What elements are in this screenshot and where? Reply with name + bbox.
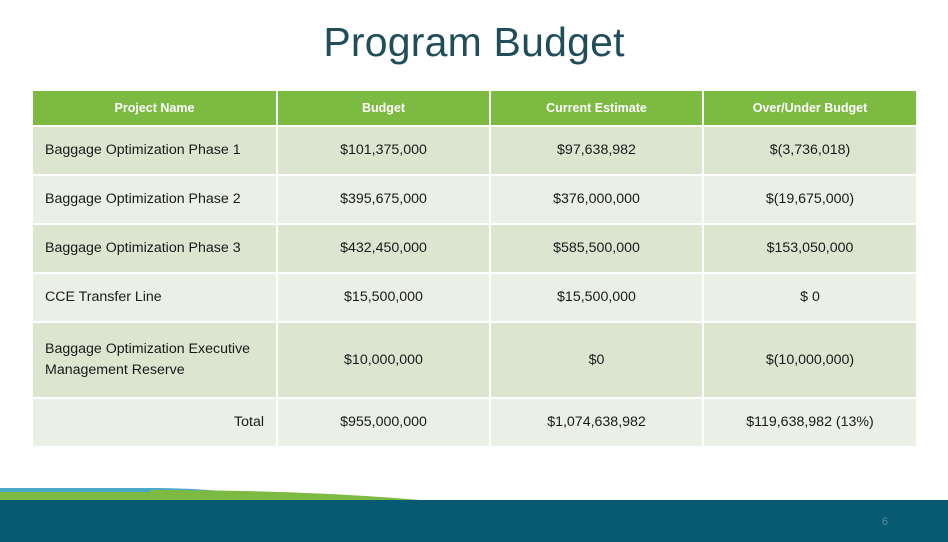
cell-current-estimate: $585,500,000 bbox=[491, 225, 704, 274]
program-budget-table: Project Name Budget Current Estimate Ove… bbox=[33, 91, 916, 446]
cell-project-name: Baggage Optimization Phase 3 bbox=[33, 225, 278, 274]
cell-over-under: $(10,000,000) bbox=[704, 323, 916, 399]
table-total-row: Total $955,000,000 $1,074,638,982 $119,6… bbox=[33, 399, 916, 446]
table-row: Baggage Optimization Phase 3 $432,450,00… bbox=[33, 225, 916, 274]
slide-canvas: Program Budget Project Name Budget Curre… bbox=[0, 0, 948, 542]
cell-budget: $395,675,000 bbox=[278, 176, 491, 225]
footer-teal-bar bbox=[0, 500, 948, 542]
cell-budget: $10,000,000 bbox=[278, 323, 491, 399]
table-header-row: Project Name Budget Current Estimate Ove… bbox=[33, 91, 916, 127]
table-body: Baggage Optimization Phase 1 $101,375,00… bbox=[33, 127, 916, 446]
cell-current-estimate: $15,500,000 bbox=[491, 274, 704, 323]
cell-over-under: $ 0 bbox=[704, 274, 916, 323]
cell-project-name: Baggage Optimization Phase 1 bbox=[33, 127, 278, 176]
cell-budget: $101,375,000 bbox=[278, 127, 491, 176]
cell-current-estimate: $97,638,982 bbox=[491, 127, 704, 176]
cell-current-estimate: $376,000,000 bbox=[491, 176, 704, 225]
cell-over-under: $(19,675,000) bbox=[704, 176, 916, 225]
cell-project-name: CCE Transfer Line bbox=[33, 274, 278, 323]
cell-over-under: $(3,736,018) bbox=[704, 127, 916, 176]
cell-current-estimate: $0 bbox=[491, 323, 704, 399]
cell-project-name: Baggage Optimization Phase 2 bbox=[33, 176, 278, 225]
page-title: Program Budget bbox=[0, 18, 948, 67]
page-number: 6 bbox=[882, 516, 888, 528]
cell-total-current-estimate: $1,074,638,982 bbox=[491, 399, 704, 446]
cell-total-budget: $955,000,000 bbox=[278, 399, 491, 446]
table-header: Project Name Budget Current Estimate Ove… bbox=[33, 91, 916, 127]
table-row: Baggage Optimization Phase 2 $395,675,00… bbox=[33, 176, 916, 225]
column-header-budget[interactable]: Budget bbox=[278, 91, 491, 127]
cell-total-label: Total bbox=[33, 399, 278, 446]
cell-budget: $15,500,000 bbox=[278, 274, 491, 323]
cell-project-name: Baggage Optimization Executive Managemen… bbox=[33, 323, 278, 399]
column-header-over-under-budget[interactable]: Over/Under Budget bbox=[704, 91, 916, 127]
table-row: Baggage Optimization Executive Managemen… bbox=[33, 323, 916, 399]
footer-green-swoosh-arc bbox=[150, 490, 466, 501]
table-row: Baggage Optimization Phase 1 $101,375,00… bbox=[33, 127, 916, 176]
table-row: CCE Transfer Line $15,500,000 $15,500,00… bbox=[33, 274, 916, 323]
footer-decoration: 6 bbox=[0, 470, 948, 542]
column-header-project-name[interactable]: Project Name bbox=[33, 91, 278, 127]
cell-total-over-under: $119,638,982 (13%) bbox=[704, 399, 916, 446]
column-header-current-estimate[interactable]: Current Estimate bbox=[491, 91, 704, 127]
cell-budget: $432,450,000 bbox=[278, 225, 491, 274]
cell-over-under: $153,050,000 bbox=[704, 225, 916, 274]
